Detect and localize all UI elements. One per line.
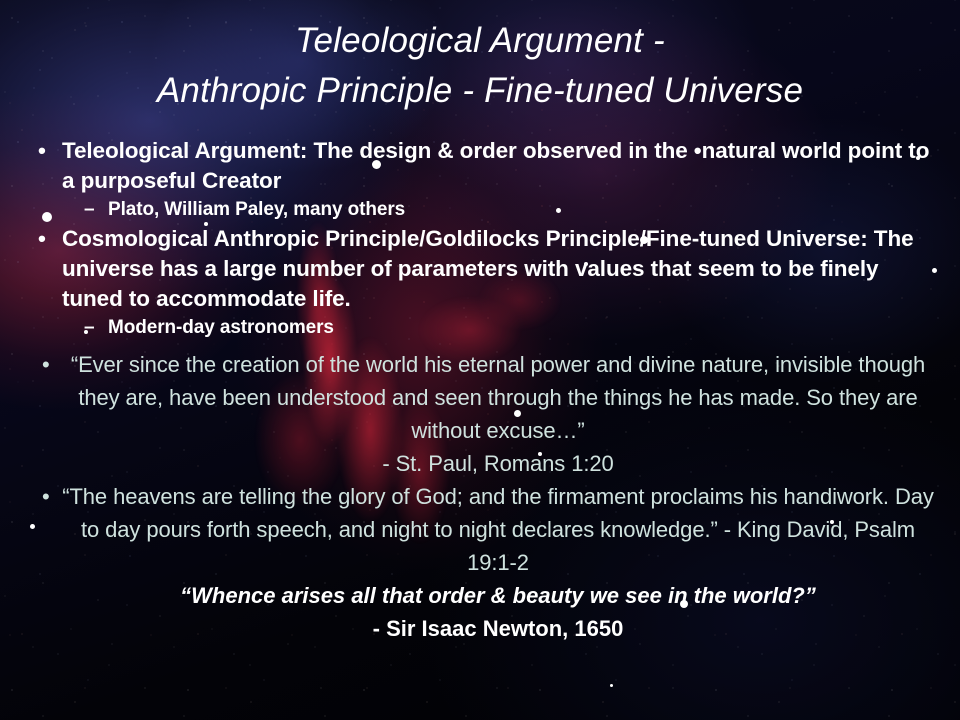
quote-text: “Ever since the creation of the world hi… bbox=[71, 352, 925, 443]
bullet-dot-icon: • bbox=[42, 480, 50, 513]
bullet-text: Cosmological Anthropic Principle/Goldilo… bbox=[62, 226, 914, 311]
closing-quote-block: “Whence arises all that order & beauty w… bbox=[16, 579, 944, 612]
bullet-item-1: • Teleological Argument: The design & or… bbox=[16, 136, 944, 196]
bullet-text: Plato, William Paley, many others bbox=[108, 199, 405, 220]
bullet-item-4: – Modern-day astronomers bbox=[16, 314, 944, 342]
bullet-item-2: – Plato, William Paley, many others bbox=[16, 196, 944, 224]
slide-canvas: Teleological Argument - Anthropic Princi… bbox=[0, 0, 960, 720]
slide-title: Teleological Argument - Anthropic Princi… bbox=[40, 16, 920, 116]
title-line-2: Anthropic Principle - Fine-tuned Univers… bbox=[40, 66, 920, 116]
bullet-dash-icon: – bbox=[84, 314, 94, 342]
bullet-dash-icon: – bbox=[84, 196, 94, 224]
quote-text: “The heavens are telling the glory of Go… bbox=[62, 484, 934, 575]
bullet-dot-icon: • bbox=[38, 224, 46, 254]
quote-attribution: - St. Paul, Romans 1:20 bbox=[62, 447, 934, 480]
bullet-text: Modern-day astronomers bbox=[108, 317, 334, 338]
quote-item-psalm: • “The heavens are telling the glory of … bbox=[16, 480, 944, 579]
closing-attribution-text: - Sir Isaac Newton, 1650 bbox=[373, 616, 624, 641]
slide-content: Teleological Argument - Anthropic Princi… bbox=[0, 0, 960, 720]
bullet-dot-icon: • bbox=[42, 348, 50, 381]
bullet-text: Teleological Argument: The design & orde… bbox=[62, 138, 929, 193]
title-line-1: Teleological Argument - bbox=[40, 16, 920, 66]
bullet-item-3: • Cosmological Anthropic Principle/Goldi… bbox=[16, 224, 944, 314]
closing-quote-text: “Whence arises all that order & beauty w… bbox=[180, 583, 816, 608]
bullet-dot-icon: • bbox=[38, 136, 46, 166]
closing-attribution-block: - Sir Isaac Newton, 1650 bbox=[16, 612, 944, 645]
quote-item-romans: • “Ever since the creation of the world … bbox=[16, 348, 944, 480]
slide-body: • Teleological Argument: The design & or… bbox=[16, 136, 944, 645]
